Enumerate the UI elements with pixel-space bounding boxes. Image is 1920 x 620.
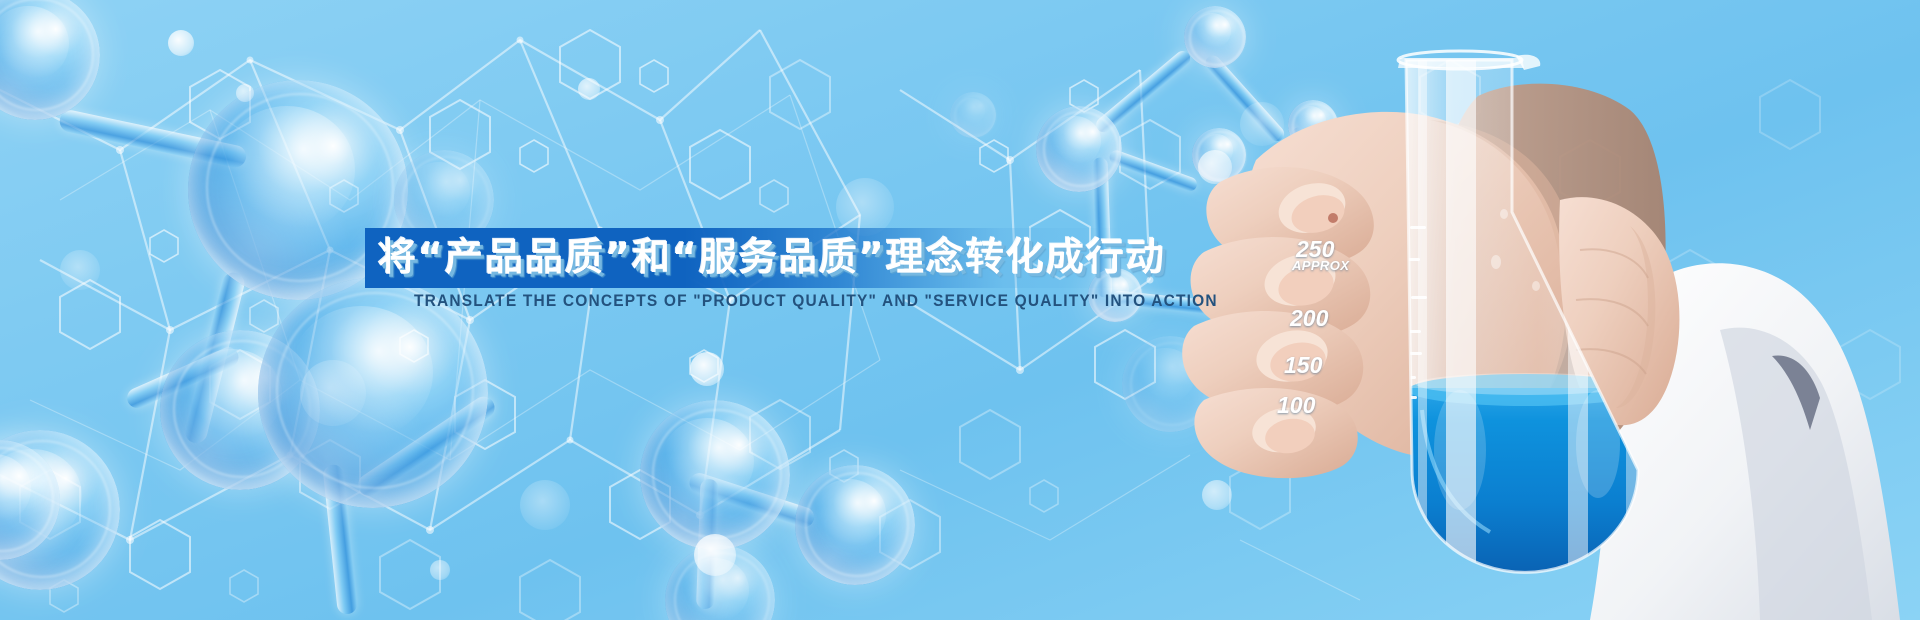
flask-graduation-250-note: APPROX — [1292, 258, 1349, 273]
hand-holding-flask-photo — [1160, 0, 1920, 620]
hero-banner: 将“产品品质”和“服务品质”理念转化成行动 TRANSLATE THE CONC… — [0, 0, 1920, 620]
subtitle-english: TRANSLATE THE CONCEPTS OF "PRODUCT QUALI… — [414, 292, 1218, 311]
headline-chinese: 将“产品品质”和“服务品质”理念转化成行动 — [378, 226, 1166, 288]
flask-graduation-150: 150 — [1284, 352, 1322, 379]
flask-graduation-100: 100 — [1277, 392, 1315, 419]
flask-graduation-200: 200 — [1290, 305, 1328, 332]
